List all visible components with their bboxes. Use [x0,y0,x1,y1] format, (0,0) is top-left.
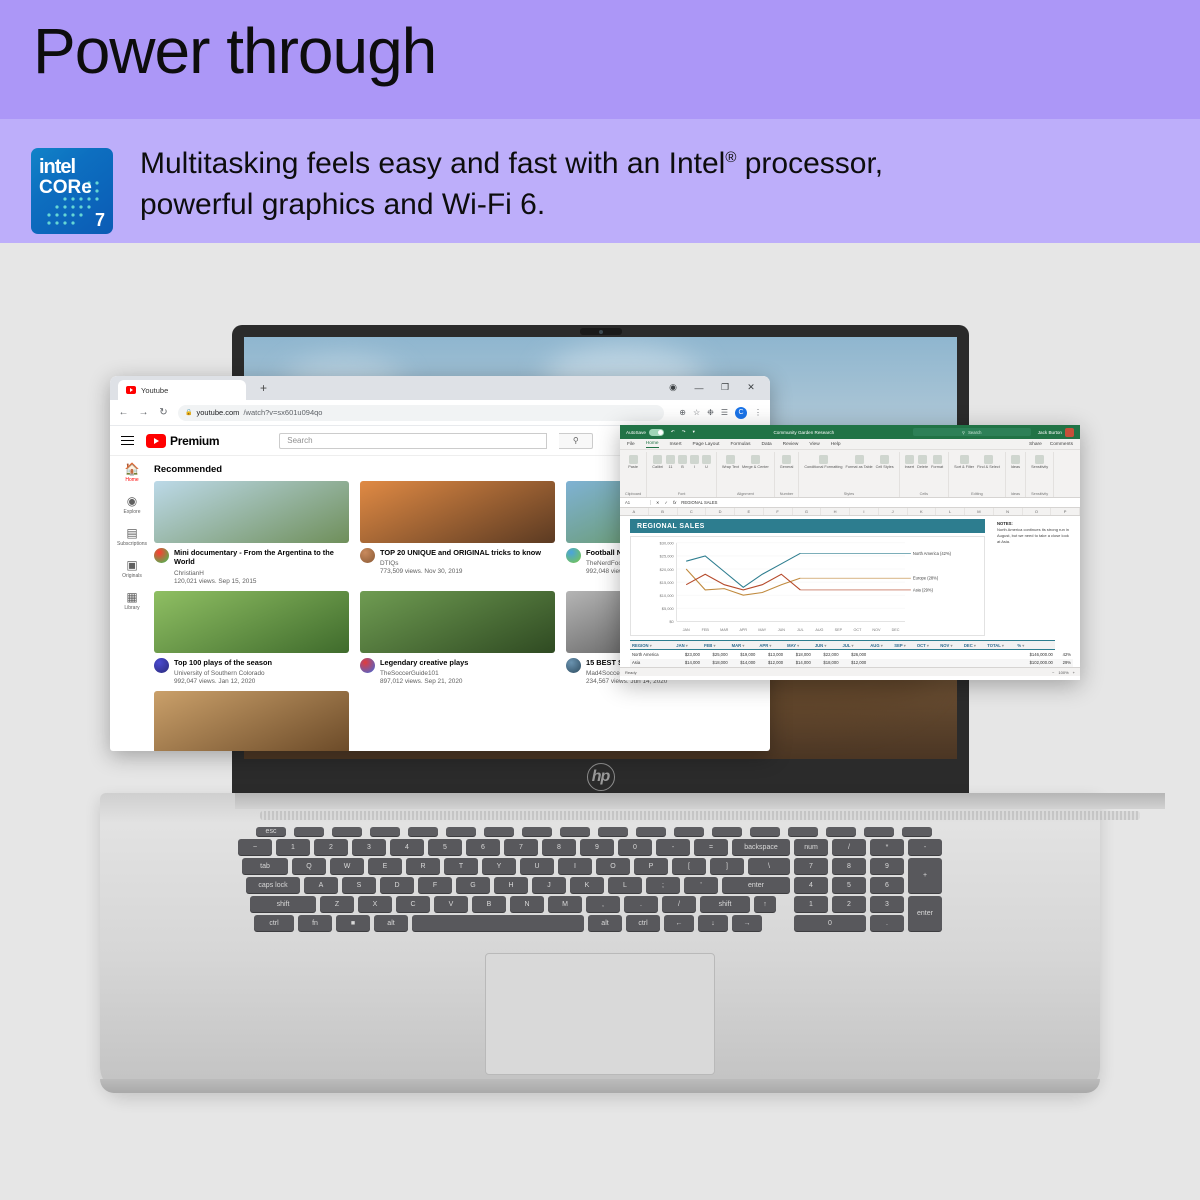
ribbon-group-items[interactable]: General [780,453,794,492]
extensions-icon[interactable]: ❉ [707,408,714,417]
sidebar-item-home[interactable]: 🏠 Home [110,463,154,483]
video-card[interactable]: Top 100 plays of the seasonUniversity of… [154,591,349,685]
excel-search-input[interactable]: ⚲ Search [913,428,1031,436]
avatar[interactable] [1065,428,1074,437]
video-channel[interactable]: TheSoccerGuide101 [380,670,468,677]
svg-text:MAY: MAY [758,628,766,632]
ribbon-item-icon [678,455,687,464]
ribbon-group-label: Alignment [737,492,754,497]
cell-month-value[interactable]: $12,000 [841,659,869,668]
video-card[interactable]: Mini documentary - From the Argentina to… [154,481,349,585]
table-header-cell[interactable]: REGION ▾ [630,641,674,650]
ribbon-item[interactable]: Cell Styles [876,455,894,469]
ribbon-group-label: Ideas [1011,492,1020,497]
cell-month-value[interactable] [915,650,938,659]
laptop-front-lip [100,1079,1100,1093]
library-icon: ▦ [126,591,137,603]
ribbon-group-clipboard[interactable]: PasteClipboard [620,452,647,497]
back-icon[interactable]: ← [118,407,129,418]
ribbon-group-number[interactable]: GeneralNumber [775,452,800,497]
autosave-label: AutoSave [626,430,646,435]
ribbon-item-label: Sort & Filter [954,465,974,469]
video-title[interactable]: Mini documentary - From the Argentina to… [174,548,349,567]
ribbon-item[interactable]: Wrap Text [722,455,739,469]
lock-icon: 🔒 [185,409,192,416]
ribbon-item-label: U [705,465,708,469]
sidebar-label-home: Home [125,477,138,483]
subtitle-part-1: Multitasking feels easy and fast with an… [140,147,725,180]
more-menu-icon[interactable]: ⋮ [754,408,762,417]
keyboard[interactable]: esc ~ 1 2 3 4 5 6 7 [238,827,960,927]
bookmark-star-icon[interactable]: ☆ [693,408,700,417]
column-header-D[interactable]: D [706,508,735,515]
cell-month-value[interactable] [915,659,938,668]
sales-table-wrapper: REGION ▾JAN ▾FEB ▾MAR ▾APR ▾MAY ▾JUN ▾JU… [630,640,1073,667]
table-header-cell[interactable]: MAR ▾ [730,641,758,650]
table-header-cell[interactable]: FEB ▾ [702,641,730,650]
intel-tier-number: 7 [95,211,105,229]
ribbon-group-label: Styles [844,492,854,497]
ribbon-group-items[interactable]: Conditional FormattingFormat as TableCel… [804,453,893,492]
subscriptions-icon: ▤ [126,527,137,539]
ribbon-group-alignment[interactable]: Wrap TextMerge & CenterAlignment [717,452,775,497]
column-header-B[interactable]: B [649,508,678,515]
formula-bar[interactable]: A1 ✕ ✓ fx REGIONAL SALES [620,498,1080,508]
cell-month-value[interactable] [938,650,962,659]
ribbon-item[interactable]: Format as Table [846,455,873,469]
column-headers[interactable]: ABCDEFGHIJKLMNOP [620,508,1080,516]
menu-view[interactable]: View [809,442,819,447]
video-channel[interactable]: University of Southern Colorado [174,670,272,677]
table-header-cell[interactable]: MAY ▾ [785,641,813,650]
ribbon-item-label: Calibri [652,465,663,469]
ribbon-item-icon [984,455,993,464]
svg-text:AUG: AUG [815,628,823,632]
svg-text:North America (42%): North America (42%) [913,551,952,556]
column-header-L[interactable]: L [936,508,965,515]
ribbon-item[interactable]: I [690,455,699,469]
ribbon-item[interactable]: Conditional Formatting [804,455,842,469]
table-header-cell[interactable]: SEP ▾ [892,641,915,650]
ribbon-group-label: Font [678,492,686,497]
svg-text:$15,000: $15,000 [660,580,675,585]
ribbon-item[interactable]: Insert [905,455,915,469]
table-row[interactable]: North America$23,000$25,000$19,000$13,00… [630,650,1073,659]
ribbon-item[interactable]: Ideas [1011,455,1020,469]
browser-tab-youtube[interactable]: Youtube [118,380,246,400]
share-button[interactable]: Share [1029,442,1042,447]
cell-month-value[interactable] [892,650,915,659]
ribbon-group-styles[interactable]: Conditional FormattingFormat as TableCel… [799,452,899,497]
youtube-favicon [126,386,136,394]
cell-month-value[interactable] [962,650,985,659]
banner-subtitle: Multitasking feels easy and fast with an… [140,143,1150,226]
laptop-bezel: hp [232,759,969,795]
excel-window[interactable]: AutoSave ↶ ↷ ▾ Community Garden Research… [620,425,1080,680]
ribbon-item-icon [918,455,927,464]
video-title[interactable]: Legendary creative plays [380,658,468,667]
reload-icon[interactable]: ↻ [158,407,169,418]
ribbon-group-font[interactable]: Calibri11BIUFont [647,452,717,497]
cell-month-value[interactable]: $18,000 [813,659,841,668]
sidebar-item-explore[interactable]: ◉ Explore [110,495,154,515]
subtitle-part-2: processor, [736,147,883,180]
table-header-cell[interactable]: JUN ▾ [813,641,841,650]
svg-text:JUL: JUL [797,628,804,632]
table-header-cell[interactable]: NOV ▾ [938,641,962,650]
registered-mark: ® [725,149,736,166]
youtube-play-icon [146,434,166,448]
ribbon-item-icon [726,455,735,464]
browser-toolbar-icons[interactable]: ⊕ ☆ ❉ ☰ C ⋮ [679,407,762,419]
ribbon-item-label: Find & Select [977,465,1000,469]
cell-month-value[interactable] [868,659,892,668]
channel-avatar[interactable] [566,548,581,563]
ribbon-group-label: Number [780,492,794,497]
ribbon-group-label: Editing [971,492,983,497]
tab-title: Youtube [141,386,168,395]
search-icon: ⚲ [962,430,965,435]
ribbon-group-items[interactable]: InsertDeleteFormat [905,453,944,492]
ribbon-item-icon [855,455,864,464]
customize-icon[interactable]: ▾ [693,429,695,435]
table-header-cell[interactable]: AUG ▾ [868,641,892,650]
function-icon[interactable]: fx [673,500,676,505]
column-header-A[interactable]: A [620,508,649,515]
url-path: /watch?v=sx601u094qo [243,408,322,417]
table-header-cell[interactable]: DEC ▾ [962,641,985,650]
ribbon-item-icon [782,455,791,464]
ribbon-item-label: Delete [917,465,928,469]
ribbon-item-icon [905,455,914,464]
sidebar-item-originals[interactable]: ▣ Originals [110,559,154,579]
sidebar-label-subscriptions: Subscriptions [117,541,147,547]
autosave-toggle[interactable]: AutoSave [626,429,664,436]
column-header-E[interactable]: E [735,508,764,515]
table-header-cell[interactable]: APR ▾ [757,641,785,650]
channel-avatar[interactable] [566,658,581,673]
cell-percent[interactable]: 42% [1055,650,1073,659]
notes-panel: NOTES: North America continues its stron… [995,519,1073,571]
intel-core-text: CORe [39,178,92,197]
promo-page: Power through intel CORe 7 Multitasking … [0,0,1200,1200]
speaker-grille [260,811,1140,820]
video-stats: 992,047 views. Jan 12, 2020 [174,678,272,685]
column-header-P[interactable]: P [1051,508,1080,515]
minimize-icon[interactable]: — [686,383,712,393]
ribbon-item-icon [751,455,760,464]
ribbon-item[interactable]: B [678,455,687,469]
url-domain: youtube.com [196,408,239,417]
cancel-icon[interactable]: ✕ [656,500,660,505]
video-channel[interactable]: DTIQs [380,560,541,567]
cell-total[interactable]: $102,000.00 [1015,659,1055,668]
cell-region[interactable]: Asia [630,659,674,668]
ribbon-item[interactable]: General [780,455,794,469]
menu-insert[interactable]: Insert [670,442,682,447]
laptop-base: esc ~ 1 2 3 4 5 6 7 [100,793,1100,1093]
excel-status-bar: Ready − 100% + [620,667,1080,676]
ribbon-group-items[interactable]: Ideas [1011,453,1020,492]
video-title[interactable]: TOP 20 UNIQUE and ORIGINAL tricks to kno… [380,548,541,557]
install-icon[interactable]: ⊕ [679,408,686,417]
excel-sheet[interactable]: REGIONAL SALES $0$5,000$10,000$15,000$20… [620,516,1080,676]
ribbon-item-label: Sensitivity [1031,465,1048,469]
sidebar-label-explore: Explore [124,509,141,515]
cell-month-value[interactable]: $18,000 [785,650,813,659]
search-button[interactable]: ⚲ [559,433,593,449]
menu-file[interactable]: File [627,442,635,447]
table-header-cell[interactable]: % ▾ [1015,641,1055,650]
zoom-control[interactable]: − 100% + [1052,670,1075,675]
menu-home[interactable]: Home [646,441,659,448]
svg-text:FEB: FEB [702,628,710,632]
cell-month-value[interactable] [892,659,915,668]
table-header-cell[interactable]: OCT ▾ [915,641,938,650]
table-header-cell[interactable]: JAN ▾ [674,641,702,650]
video-thumbnail[interactable] [360,481,555,543]
cell-month-value[interactable]: $13,000 [757,650,785,659]
cell-month-value[interactable]: $23,000 [674,650,702,659]
ribbon-item-label: 11 [669,465,673,469]
excel-menu-bar[interactable]: File Home Insert Page Layout Formulas Da… [620,439,1080,450]
menu-data[interactable]: Data [761,442,771,447]
ribbon-item-icon [702,455,711,464]
cell-month-value[interactable] [962,659,985,668]
user-account[interactable]: Jack Burton [1038,428,1074,437]
cell-month-value[interactable]: $14,000 [730,659,758,668]
browser-url-bar[interactable]: ← → ↻ 🔒 youtube.com/watch?v=sx601u094qo … [110,400,770,426]
video-card[interactable]: TOP 20 UNIQUE and ORIGINAL tricks to kno… [360,481,555,585]
column-header-O[interactable]: O [1023,508,1052,515]
svg-text:$0: $0 [669,619,674,624]
excel-menu-right[interactable]: Share Comments [1029,442,1073,447]
ribbon-item-label: Ideas [1011,465,1020,469]
document-title: Community Garden Research [702,430,906,435]
hp-logo: hp [587,763,615,791]
cell-month-value[interactable]: $22,000 [813,650,841,659]
video-title[interactable]: Top 100 plays of the season [174,658,272,667]
column-header-G[interactable]: G [793,508,822,515]
cell-month-value[interactable]: $14,000 [674,659,702,668]
browser-tab-bar: Youtube + ◉ — ❐ ✕ [110,376,770,400]
new-tab-button[interactable]: + [260,383,267,393]
subtitle-part-3: powerful graphics and Wi-Fi 6. [140,188,545,221]
sales-data-table[interactable]: REGION ▾JAN ▾FEB ▾MAR ▾APR ▾MAY ▾JUN ▾JU… [630,640,1073,667]
cell-month-value[interactable]: $25,000 [702,650,730,659]
channel-avatar[interactable] [360,658,375,673]
sidebar-label-library: Library [124,605,139,611]
svg-text:$25,000: $25,000 [660,554,675,559]
svg-text:JAN: JAN [683,628,690,632]
svg-text:APR: APR [739,628,747,632]
column-header-K[interactable]: K [908,508,937,515]
video-card[interactable]: 5 easy beginners tricks / LEARN HOW TOFo… [154,691,349,751]
profile-avatar[interactable]: C [735,407,747,419]
youtube-brand[interactable]: Premium [146,434,219,448]
svg-text:$10,000: $10,000 [660,593,675,598]
cell-total[interactable]: $146,000.00 [1015,650,1055,659]
cell-month-value[interactable] [985,659,1015,668]
ribbon-item[interactable]: Find & Select [977,455,1000,469]
ribbon-item[interactable]: 11 [666,455,675,469]
search-input[interactable]: Search [279,433,547,449]
zoom-out-icon[interactable]: − [1052,670,1054,675]
svg-text:Asia (29%): Asia (29%) [913,587,934,592]
ribbon-group-items[interactable]: Wrap TextMerge & Center [722,453,769,492]
cell-month-value[interactable] [938,659,962,668]
menu-page-layout[interactable]: Page Layout [693,442,720,447]
ribbon-item-icon [880,455,889,464]
address-input[interactable]: 🔒 youtube.com/watch?v=sx601u094qo [178,405,664,421]
svg-text:$5,000: $5,000 [662,606,675,611]
reading-list-icon[interactable]: ☰ [721,408,728,417]
channel-avatar[interactable] [154,548,169,563]
column-header-J[interactable]: J [879,508,908,515]
cell-month-value[interactable] [985,650,1015,659]
ribbon-item[interactable]: Calibri [652,455,663,469]
webcam-icon [580,328,622,335]
ribbon-group-items[interactable]: Calibri11BIU [652,453,711,492]
user-name: Jack Burton [1038,430,1062,435]
column-header-H[interactable]: H [821,508,850,515]
formula-value[interactable]: REGIONAL SALES [681,500,717,505]
table-header-row: REGION ▾JAN ▾FEB ▾MAR ▾APR ▾MAY ▾JUN ▾JU… [630,641,1073,650]
column-header-M[interactable]: M [965,508,994,515]
video-meta: TOP 20 UNIQUE and ORIGINAL tricks to kno… [360,548,555,575]
home-icon: 🏠 [125,463,140,475]
sidebar-item-library[interactable]: ▦ Library [110,591,154,611]
excel-ribbon[interactable]: PasteClipboardCalibri11BIUFontWrap TextM… [620,450,1080,498]
settings-icon[interactable]: ◉ [660,382,686,393]
menu-hamburger-icon[interactable] [121,436,134,446]
ribbon-group-items[interactable]: Sort & FilterFind & Select [954,453,1000,492]
video-channel[interactable]: ChristianH [174,570,349,577]
sheet-banner-title: REGIONAL SALES [630,519,985,533]
compass-icon: ◉ [127,495,137,507]
name-box[interactable]: A1 [625,500,651,505]
cell-month-value[interactable]: $26,000 [841,650,869,659]
trackpad[interactable] [485,953,715,1075]
ribbon-group-label: Cells [920,492,928,497]
window-controls[interactable]: ◉ — ❐ ✕ [660,382,764,393]
svg-text:SEP: SEP [835,628,843,632]
ribbon-item-label: General [780,465,794,469]
svg-text:JUN: JUN [778,628,786,632]
youtube-premium-label: Premium [170,434,219,448]
ribbon-item-label: B [681,465,684,469]
ribbon-item-label: Merge & Center [742,465,769,469]
laptop-hinge [235,793,1165,809]
cell-month-value[interactable]: $14,000 [785,659,813,668]
notes-title: NOTES: [997,521,1013,526]
ribbon-group-items[interactable]: Paste [628,453,638,492]
channel-avatar[interactable] [360,548,375,563]
ribbon-item-icon [1035,455,1044,464]
ribbon-group-editing[interactable]: Sort & FilterFind & SelectEditing [949,452,1006,497]
video-card[interactable]: Legendary creative playsTheSoccerGuide10… [360,591,555,685]
menu-formulas[interactable]: Formulas [730,442,750,447]
cell-month-value[interactable]: $18,000 [702,659,730,668]
youtube-sidebar[interactable]: 🏠 Home ◉ Explore ▤ Subscriptions ▣ Origi… [110,456,154,751]
originals-icon: ▣ [126,559,137,571]
video-thumbnail[interactable] [154,591,349,653]
cell-month-value[interactable] [868,650,892,659]
ribbon-item[interactable]: U [702,455,711,469]
cell-month-value[interactable]: $12,000 [757,659,785,668]
regional-sales-chart[interactable]: $0$5,000$10,000$15,000$20,000$25,000$30,… [630,536,985,636]
ribbon-item[interactable]: Merge & Center [742,455,769,469]
menu-review[interactable]: Review [783,442,799,447]
menu-help[interactable]: Help [831,442,841,447]
column-header-N[interactable]: N [994,508,1023,515]
video-meta: Legendary creative playsTheSoccerGuide10… [360,658,555,685]
cell-month-value[interactable]: $19,000 [730,650,758,659]
video-stats: 773,509 views. Nov 30, 2019 [380,568,541,575]
page-title: Power through [33,18,436,85]
svg-text:OCT: OCT [854,628,863,632]
svg-text:DEC: DEC [892,628,900,632]
undo-icon[interactable]: ↶ [671,429,675,435]
ribbon-item-label: Format as Table [846,465,873,469]
ribbon-item-label: Format [931,465,943,469]
table-header-cell[interactable]: TOTAL ▾ [985,641,1015,650]
ribbon-group-cells[interactable]: InsertDeleteFormatCells [900,452,950,497]
ribbon-item-label: Cell Styles [876,465,894,469]
ribbon-group-ideas[interactable]: IdeasIdeas [1006,452,1026,497]
video-thumbnail[interactable] [154,691,349,751]
ribbon-item[interactable]: Paste [628,455,638,469]
zoom-level: 100% [1058,670,1068,675]
channel-avatar[interactable] [154,658,169,673]
comments-button[interactable]: Comments [1050,442,1073,447]
column-header-I[interactable]: I [850,508,879,515]
video-stats: 120,021 views. Sep 15, 2015 [174,578,349,585]
maximize-icon[interactable]: ❐ [712,382,738,393]
line-chart-svg: $0$5,000$10,000$15,000$20,000$25,000$30,… [631,537,984,635]
autosave-switch[interactable] [649,429,664,436]
confirm-icon[interactable]: ✓ [665,500,669,505]
ribbon-item-icon [819,455,828,464]
column-header-C[interactable]: C [678,508,707,515]
ribbon-item[interactable]: Sort & Filter [954,455,974,469]
close-icon[interactable]: ✕ [738,382,764,393]
ribbon-group-items[interactable]: Sensitivity [1031,453,1048,492]
ribbon-item[interactable]: Sensitivity [1031,455,1048,469]
ribbon-group-label: Sensitivity [1031,492,1048,497]
sidebar-item-subscriptions[interactable]: ▤ Subscriptions [110,527,154,547]
notes-body: North America continues its strong run i… [997,527,1069,544]
column-header-F[interactable]: F [764,508,793,515]
ribbon-group-label: Clipboard [625,492,641,497]
ribbon-item[interactable]: Delete [917,455,928,469]
table-row[interactable]: Asia$14,000$18,000$14,000$12,000$14,000$… [630,659,1073,668]
svg-text:NOV: NOV [872,628,881,632]
video-thumbnail[interactable] [154,481,349,543]
video-thumbnail[interactable] [360,591,555,653]
zoom-in-icon[interactable]: + [1073,670,1075,675]
redo-icon[interactable]: ↷ [682,429,686,435]
ribbon-item-label: Wrap Text [722,465,739,469]
ribbon-group-sensitivity[interactable]: SensitivitySensitivity [1026,452,1054,497]
cell-percent[interactable]: 29% [1055,659,1073,668]
ribbon-item[interactable]: Format [931,455,943,469]
table-header-cell[interactable]: JUL ▾ [841,641,869,650]
ribbon-item-label: Conditional Formatting [804,465,842,469]
ribbon-item-label: Paste [628,465,638,469]
forward-icon[interactable]: → [138,407,149,418]
cell-region[interactable]: North America [630,650,674,659]
